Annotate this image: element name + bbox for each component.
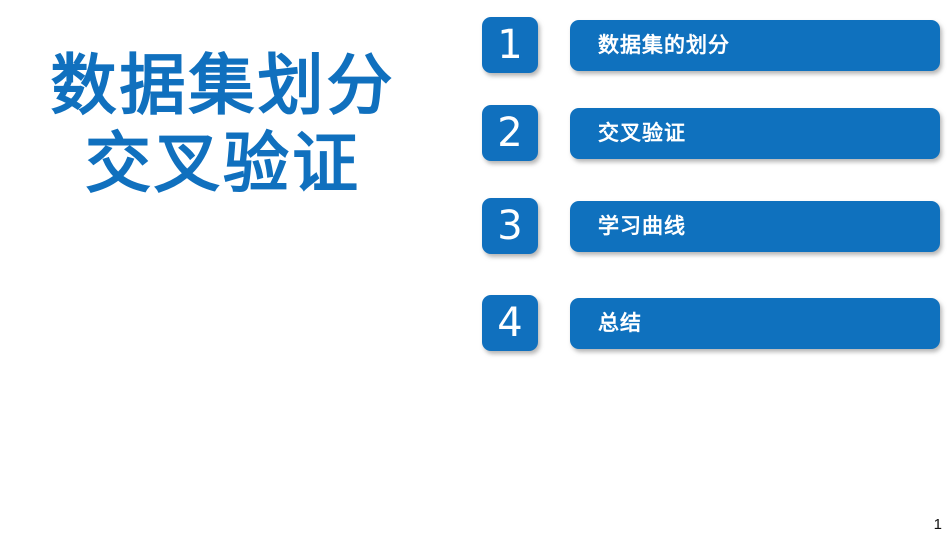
agenda-label-1: 数据集的划分 <box>598 20 730 71</box>
agenda-item-3[interactable]: 3 学习曲线 <box>482 198 940 254</box>
agenda-item-4[interactable]: 4 总结 <box>482 295 940 351</box>
agenda-list: 1 数据集的划分 2 交叉验证 3 学习曲线 4 总结 <box>482 0 952 540</box>
page-number: 1 <box>934 516 942 534</box>
agenda-item-1[interactable]: 1 数据集的划分 <box>482 17 940 73</box>
slide-title: 数据集划分 交叉验证 <box>0 46 440 202</box>
agenda-bar-3[interactable]: 学习曲线 <box>570 201 940 252</box>
agenda-number-badge-3: 3 <box>482 198 538 254</box>
agenda-bar-4[interactable]: 总结 <box>570 298 940 349</box>
slide-title-line-2: 交叉验证 <box>0 124 440 202</box>
agenda-number-badge-1: 1 <box>482 17 538 73</box>
slide-canvas: 数据集划分 交叉验证 1 数据集的划分 2 交叉验证 3 学习曲线 4 总结 <box>0 0 952 540</box>
agenda-bar-2[interactable]: 交叉验证 <box>570 108 940 159</box>
agenda-number-badge-2: 2 <box>482 105 538 161</box>
agenda-label-2: 交叉验证 <box>598 108 686 159</box>
agenda-number-badge-4: 4 <box>482 295 538 351</box>
agenda-item-2[interactable]: 2 交叉验证 <box>482 105 940 161</box>
agenda-bar-1[interactable]: 数据集的划分 <box>570 20 940 71</box>
agenda-label-3: 学习曲线 <box>598 201 686 252</box>
slide-title-line-1: 数据集划分 <box>0 46 440 124</box>
agenda-label-4: 总结 <box>598 298 642 349</box>
